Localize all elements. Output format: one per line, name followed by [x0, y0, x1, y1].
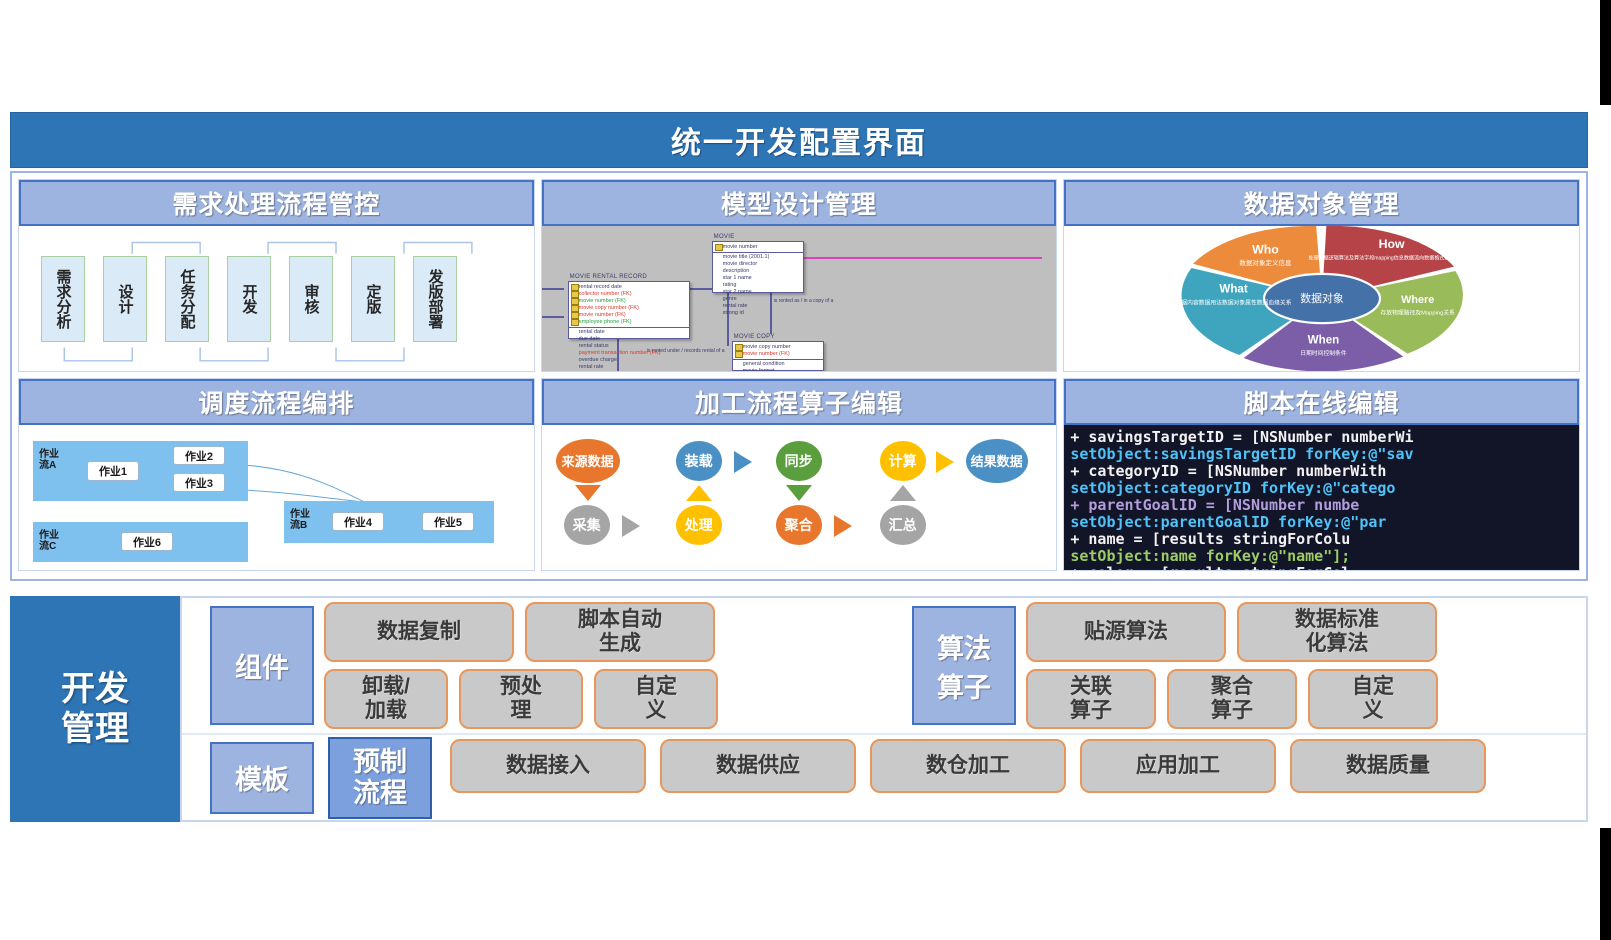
er-field: movie title (2001.1): [713, 254, 803, 261]
er-field: rental rate: [569, 364, 689, 371]
code-line-6: + name = [results stringForColu: [1070, 531, 1573, 548]
dev-management-section: 开发管理 组件 数据复制 脚本自动生成 卸载/加载: [10, 596, 1588, 822]
operator-node-aggregate[interactable]: 聚合: [776, 505, 822, 545]
er-field: star 1 name: [713, 275, 803, 282]
arrow-down-icon: [786, 485, 812, 501]
panel-title-script: 脚本在线编辑: [1244, 384, 1400, 420]
er-entity-caption-0: MOVIE RENTAL RECORD: [570, 274, 647, 280]
component-button-area: 数据复制 脚本自动生成 卸载/加载 预处理 自定义: [314, 598, 884, 733]
er-field: general condition: [733, 361, 823, 368]
btn-preprocess[interactable]: 预处理: [459, 669, 583, 729]
arrow-up-icon: [890, 485, 916, 501]
panel-title-requirement: 需求处理流程管控: [172, 185, 380, 221]
category-component[interactable]: 组件: [210, 606, 314, 725]
er-field: rental date: [569, 329, 689, 336]
pie-label-what: What: [1219, 283, 1247, 296]
operator-node-process[interactable]: 处理: [676, 505, 722, 545]
panel-script-editor[interactable]: 脚本在线编辑 + savingsTargetID = [NSNumber num…: [1063, 378, 1580, 571]
flow-step-3[interactable]: 开发: [227, 256, 271, 342]
btn-join-operator[interactable]: 关联算子: [1026, 669, 1156, 729]
arrow-right-icon: [936, 451, 954, 473]
operator-node-result[interactable]: 结果数据: [966, 439, 1028, 483]
flow-step-6[interactable]: 发版部署: [413, 256, 457, 342]
er-connector: [542, 316, 564, 318]
dev-management-label: 开发管理: [61, 669, 129, 749]
er-field: due date: [569, 336, 689, 343]
dev-management-main: 组件 数据复制 脚本自动生成 卸载/加载 预处理 自定义: [180, 596, 1588, 822]
er-field: star 2 name: [713, 289, 803, 296]
panel-header-model-design[interactable]: 模型设计管理: [542, 180, 1057, 226]
job-group-c[interactable]: 作业流C 作业6: [33, 522, 248, 562]
dev-label-line1: 开发: [61, 670, 129, 708]
panel-requirement-process[interactable]: 需求处理流程管控: [18, 179, 535, 372]
btn-data-ingest[interactable]: 数据接入: [450, 739, 646, 793]
er-connector-pink: [804, 257, 1042, 259]
panel-model-design[interactable]: 模型设计管理: [541, 179, 1058, 372]
operator-label: 来源数据: [562, 455, 614, 468]
job-group-b-label: 作业流B: [290, 509, 310, 531]
er-field: rental record date: [569, 284, 689, 291]
job-group-a[interactable]: 作业流A 作业1 作业2 作业3: [33, 441, 248, 501]
panel-title-data-object: 数据对象管理: [1244, 185, 1400, 221]
panels-frame: 需求处理流程管控: [10, 171, 1588, 581]
code-line-1: setObject:savingsTargetID forKey:@"sav: [1070, 446, 1573, 463]
pie-label-how: How: [1378, 237, 1404, 251]
operator-label: 装载: [685, 455, 713, 468]
right-edge-bar-bottom: [1600, 828, 1611, 940]
job-group-a-label: 作业流A: [39, 449, 59, 471]
btn-source-algorithm[interactable]: 贴源算法: [1026, 602, 1226, 662]
flow-step-label: 定版: [363, 284, 384, 314]
operator-node-summarize[interactable]: 汇总: [880, 505, 926, 545]
flow-step-0[interactable]: 需求分析: [41, 256, 85, 342]
operator-node-source[interactable]: 来源数据: [556, 439, 620, 483]
arrow-right-icon: [734, 451, 752, 473]
operator-label: 计算: [889, 455, 917, 468]
panel-schedule-flow[interactable]: 调度流程编排: [18, 378, 535, 571]
panel-header-operator[interactable]: 加工流程算子编辑: [542, 379, 1057, 425]
panel-body-model-design: MOVIE RENTAL RECORD rental record date c…: [542, 226, 1057, 371]
dev-management-sidebar[interactable]: 开发管理: [10, 596, 180, 822]
operator-node-sync[interactable]: 同步: [776, 441, 822, 481]
btn-warehouse-processing[interactable]: 数仓加工: [870, 739, 1066, 793]
pie-sub-who: 数据对象定义信息: [1239, 258, 1292, 267]
operator-diagram[interactable]: 来源数据 装载 同步 计算: [542, 425, 1057, 570]
operator-node-collect[interactable]: 采集: [564, 505, 610, 545]
panel-header-data-object[interactable]: 数据对象管理: [1064, 180, 1579, 226]
panel-header-requirement[interactable]: 需求处理流程管控: [19, 180, 534, 226]
er-connector: [542, 288, 564, 290]
panel-body-schedule: 作业流A 作业1 作业2 作业3 作业流B 作业4 作业5: [19, 425, 534, 570]
code-line-8: + color = [results stringForCol: [1070, 565, 1573, 570]
er-field: movie number (FK): [733, 351, 823, 358]
er-field: rating: [713, 282, 803, 289]
flow-step-5[interactable]: 定版: [351, 256, 395, 342]
job-2[interactable]: 作业2: [173, 446, 225, 465]
panel-row-1: 需求处理流程管控: [18, 179, 1580, 372]
panel-row-2: 调度流程编排: [18, 378, 1580, 571]
er-entity-caption-2: MOVIE COPY: [734, 334, 775, 340]
dev-row-components: 组件 数据复制 脚本自动生成 卸载/加载 预处理 自定义: [182, 598, 1586, 735]
btn-unload-load[interactable]: 卸载/加载: [324, 669, 448, 729]
five-w-pie-chart[interactable]: 数据对象 Who 数据对象定义信息 How 处理数据逻辑算法及算法字段mappi…: [1064, 226, 1579, 371]
page-title: 统一开发配置界面: [671, 118, 927, 162]
er-field: movie director: [713, 261, 803, 268]
pie-label-where: Where: [1401, 294, 1434, 306]
flow-step-label: 任务分配: [177, 269, 198, 329]
er-diagram[interactable]: MOVIE RENTAL RECORD rental record date c…: [542, 226, 1057, 371]
panel-title-operator: 加工流程算子编辑: [695, 384, 903, 420]
btn-script-autogen[interactable]: 脚本自动生成: [525, 602, 715, 662]
job-group-c-label: 作业流C: [39, 530, 59, 552]
er-field: movie number: [713, 244, 803, 251]
panel-title-model-design: 模型设计管理: [721, 185, 877, 221]
btn-aggregate-operator[interactable]: 聚合算子: [1167, 669, 1297, 729]
dev-label-line2: 管理: [61, 710, 129, 748]
er-field: movie number (FK): [569, 298, 689, 305]
operator-label: 汇总: [889, 519, 917, 532]
panel-body-data-object: 数据对象 Who 数据对象定义信息 How 处理数据逻辑算法及算法字段mappi…: [1064, 226, 1579, 371]
code-line-4: + parentGoalID = [NSNumber numbe: [1070, 497, 1573, 514]
job-1[interactable]: 作业1: [87, 461, 139, 481]
job-4[interactable]: 作业4: [332, 512, 384, 531]
arrow-up-icon: [686, 485, 712, 501]
flow-step-label: 设计: [115, 284, 136, 314]
panel-operator-flow[interactable]: 加工流程算子编辑 来源数据 装载: [541, 378, 1058, 571]
panel-title-schedule: 调度流程编排: [198, 384, 354, 420]
er-relationship-note-1: is rented under / records rental of a: [647, 348, 725, 354]
er-entity-card-2[interactable]: movie copy number movie number (FK) gene…: [732, 341, 824, 371]
arrow-right-icon: [622, 515, 640, 537]
btn-data-supply[interactable]: 数据供应: [660, 739, 856, 793]
category-preset-flow[interactable]: 预制流程: [328, 737, 432, 819]
er-relationship-note-0: is rented as / in a copy of a: [774, 298, 834, 304]
code-editor-surface[interactable]: + savingsTargetID = [NSNumber numberWi s…: [1064, 425, 1579, 570]
category-algorithm[interactable]: 算法算子: [912, 606, 1016, 725]
job-3[interactable]: 作业3: [173, 473, 225, 492]
btn-custom-operator[interactable]: 自定义: [1308, 669, 1438, 729]
code-line-0: + savingsTargetID = [NSNumber numberWi: [1070, 429, 1573, 446]
flow-step-label: 开发: [239, 284, 260, 314]
er-field: overdue charge: [569, 357, 689, 364]
er-field: description: [713, 268, 803, 275]
operator-label: 聚合: [785, 519, 813, 532]
flow-step-label: 审核: [301, 284, 322, 314]
requirement-step-list: 需求分析 设计 任务分配 开发 审核 定版 发版部署: [41, 244, 512, 353]
code-line-2: + categoryID = [NSNumber numberWith: [1070, 463, 1573, 480]
category-template[interactable]: 模板: [210, 742, 314, 814]
er-connector: [770, 314, 772, 334]
job-5[interactable]: 作业5: [422, 512, 474, 531]
screenshot-root: 统一开发配置界面 需求处理流程管控: [0, 0, 1611, 940]
pie-label-who: Who: [1252, 243, 1279, 257]
er-field: movie number (FK): [569, 312, 689, 319]
er-field: strong id: [713, 310, 803, 317]
job-group-b[interactable]: 作业流B 作业4 作业5: [284, 501, 494, 543]
requirement-flow-diagram: 需求分析 设计 任务分配 开发 审核 定版 发版部署: [19, 226, 534, 371]
schedule-diagram[interactable]: 作业流A 作业1 作业2 作业3 作业流B 作业4 作业5: [19, 425, 534, 570]
code-line-5: setObject:parentGoalID forKey:@"par: [1070, 514, 1573, 531]
er-entity-card-0[interactable]: rental record date collector number (FK)…: [568, 281, 690, 339]
operator-label: 处理: [685, 519, 713, 532]
panel-body-script: + savingsTargetID = [NSNumber numberWi s…: [1064, 425, 1579, 570]
code-line-7: setObject:name forKey:@"name"];: [1070, 548, 1573, 565]
operator-node-compute[interactable]: 计算: [880, 441, 926, 481]
er-field: rental rate: [713, 303, 803, 310]
er-field: movie copy number (FK): [569, 305, 689, 312]
right-edge-bar-top: [1600, 0, 1611, 105]
preset-flow-button-area: 数据接入 数据供应 数仓加工 应用加工 数据质量: [432, 735, 1586, 820]
algorithm-button-area: 贴源算法 数据标准化算法 关联算子 聚合算子 自定义: [1016, 598, 1586, 733]
operator-label: 结果数据: [971, 455, 1023, 468]
arrow-right-icon: [834, 515, 852, 537]
job-6[interactable]: 作业6: [121, 532, 173, 551]
dev-row-templates: 模板 预制流程 数据接入 数据供应 数仓加工 应用加工 数据质量: [182, 735, 1586, 820]
flow-step-label: 需求分析: [53, 269, 74, 329]
er-field: employee phone (FK): [569, 319, 689, 326]
panel-data-object[interactable]: 数据对象管理: [1063, 179, 1580, 372]
er-entity-card-1[interactable]: movie number movie title (2001.1) movie …: [712, 241, 804, 293]
btn-data-replication[interactable]: 数据复制: [324, 602, 514, 662]
pie-sub-how: 处理数据逻辑算法及算法字段mapping信息数据流向数据格式数据存储格式: [1308, 254, 1474, 261]
code-line-3: setObject:categoryID forKey:@"catego: [1070, 480, 1573, 497]
arrow-down-icon: [575, 485, 601, 501]
er-field: movie copy number: [733, 344, 823, 351]
flow-step-label: 发版部署: [425, 269, 446, 329]
panel-header-schedule[interactable]: 调度流程编排: [19, 379, 534, 425]
btn-data-quality[interactable]: 数据质量: [1290, 739, 1486, 793]
er-field: collector number (FK): [569, 291, 689, 298]
operator-label: 采集: [573, 519, 601, 532]
operator-node-load[interactable]: 装载: [676, 441, 722, 481]
flow-step-1[interactable]: 设计: [103, 256, 147, 342]
flow-step-4[interactable]: 审核: [289, 256, 333, 342]
board-title-bar: 统一开发配置界面: [10, 112, 1588, 168]
operator-label: 同步: [785, 455, 813, 468]
btn-standardize-algorithm[interactable]: 数据标准化算法: [1237, 602, 1437, 662]
er-field: movie format: [733, 368, 823, 371]
er-entity-caption-1: MOVIE: [714, 234, 735, 240]
pie-center-label: 数据对象: [1300, 291, 1344, 305]
panel-body-requirement: 需求分析 设计 任务分配 开发 审核 定版 发版部署: [19, 226, 534, 371]
panel-header-script[interactable]: 脚本在线编辑: [1064, 379, 1579, 425]
flow-step-2[interactable]: 任务分配: [165, 256, 209, 342]
btn-application-processing[interactable]: 应用加工: [1080, 739, 1276, 793]
panel-body-operator: 来源数据 装载 同步 计算: [542, 425, 1057, 570]
btn-custom-component[interactable]: 自定义: [594, 669, 718, 729]
pie-label-when: When: [1307, 333, 1339, 346]
